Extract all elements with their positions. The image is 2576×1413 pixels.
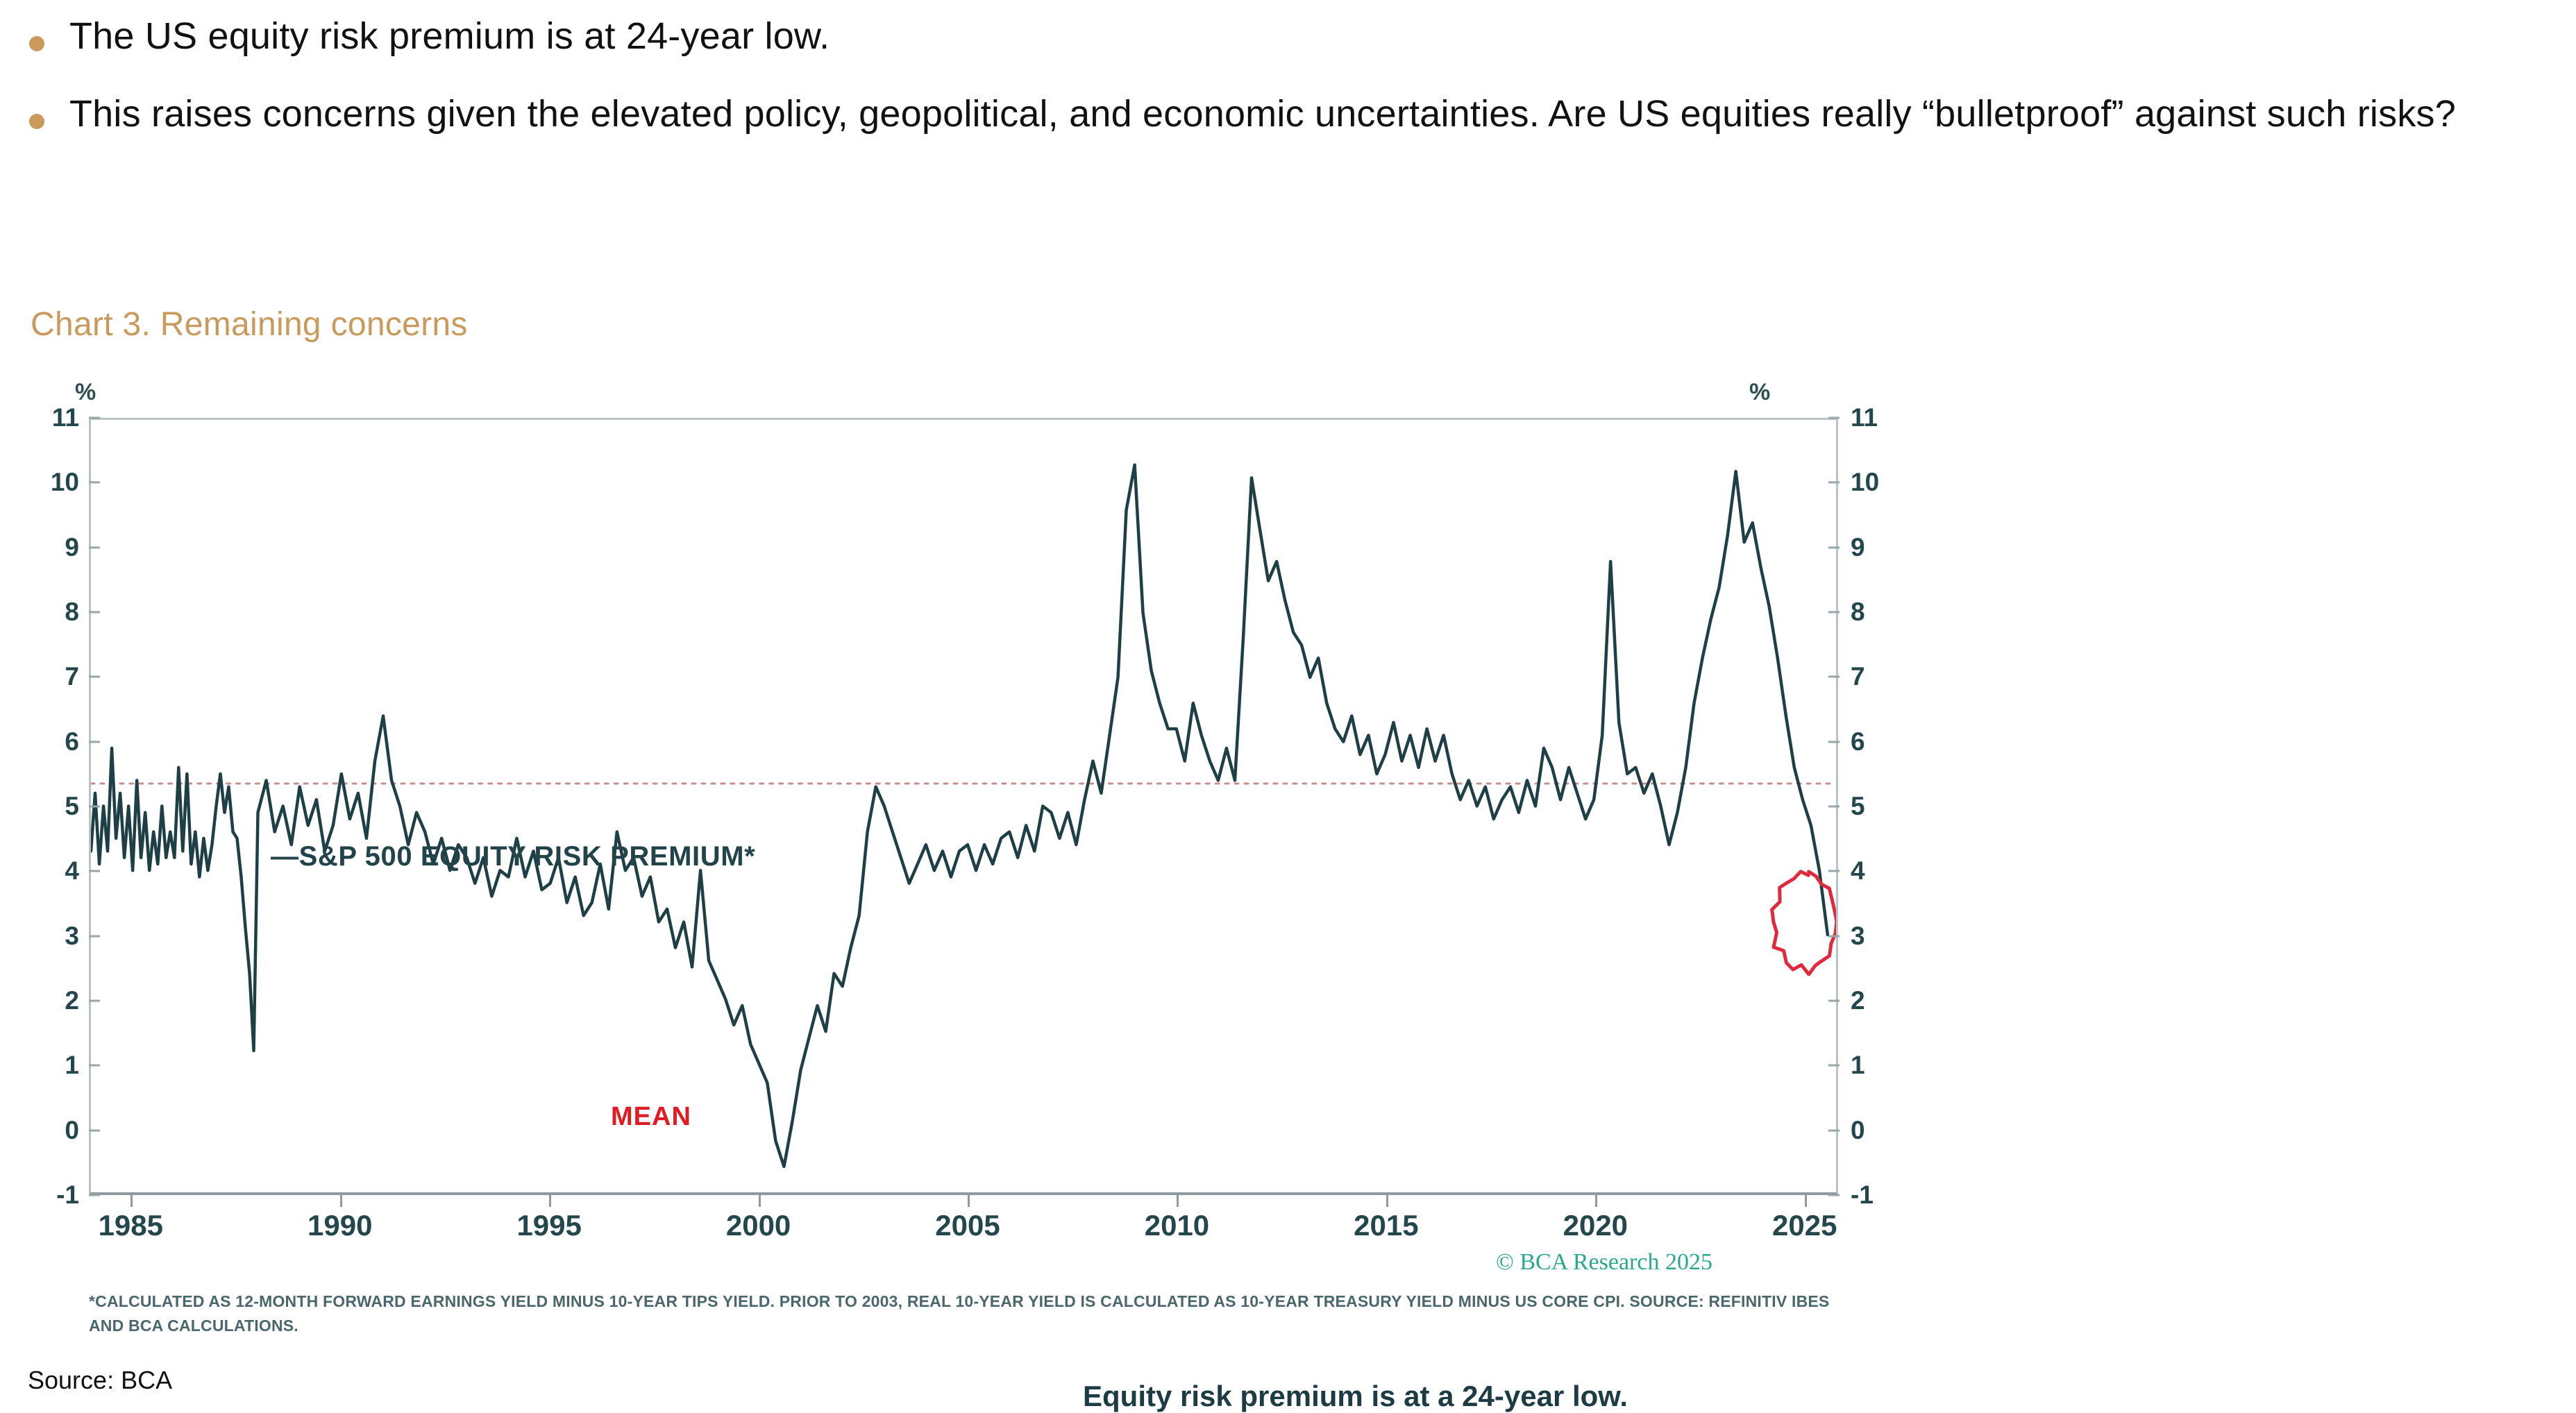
- y-axis-tick-mark: [1828, 1000, 1840, 1002]
- y-axis-tick-mark: [1828, 870, 1840, 872]
- x-axis-tick-label: 2020: [1563, 1209, 1628, 1242]
- list-item: The US equity risk premium is at 24-year…: [0, 14, 2561, 60]
- y-axis-tick-mark: [89, 1194, 100, 1196]
- y-axis-tick-label: 6: [1851, 727, 1920, 756]
- y-axis-tick-label: 9: [10, 533, 79, 562]
- bullet-dot-icon: [29, 36, 44, 51]
- y-axis-tick-mark: [89, 1065, 100, 1067]
- bullet-text-2: This raises concerns given the elevated …: [69, 92, 2456, 137]
- y-axis-tick-label: 11: [1851, 403, 1920, 432]
- y-axis-tick-label: 2: [1851, 986, 1920, 1015]
- y-axis-tick-mark: [1828, 1065, 1840, 1067]
- y-axis-tick-mark: [89, 935, 100, 937]
- y-axis-tick-label: -1: [1851, 1181, 1920, 1210]
- x-axis-tick-label: 1990: [308, 1209, 372, 1242]
- y-axis-tick-mark: [89, 482, 100, 484]
- chart-container: % % -1-100112233445566778899101011111985…: [0, 361, 1860, 1346]
- y-axis-tick-label: 0: [1851, 1116, 1920, 1145]
- y-axis-tick-label: 3: [10, 922, 79, 951]
- y-axis-tick-mark: [1828, 676, 1840, 678]
- y-axis-tick-label: 5: [10, 792, 79, 821]
- x-axis-tick-label: 2000: [726, 1209, 791, 1242]
- x-axis-tick-mark: [131, 1195, 133, 1207]
- bullet-dot-icon: [29, 114, 44, 129]
- y-axis-tick-label: -1: [10, 1181, 79, 1210]
- x-axis-tick-label: 1995: [516, 1209, 581, 1242]
- x-axis-tick-mark: [968, 1195, 970, 1207]
- y-axis-tick-label: 7: [10, 662, 79, 691]
- y-axis-tick-label: 4: [10, 856, 79, 886]
- y-axis-tick-mark: [1828, 1129, 1840, 1131]
- y-axis-tick-label: 11: [10, 403, 79, 432]
- x-axis-tick-label: 2025: [1772, 1209, 1837, 1242]
- y-axis-tick-label: 1: [10, 1051, 79, 1080]
- legend-series-label: —S&P 500 EQUITY RISK PREMIUM*: [271, 841, 755, 872]
- y-axis-tick-mark: [1828, 417, 1840, 419]
- x-axis-tick-mark: [1805, 1195, 1807, 1207]
- x-axis-tick-mark: [759, 1195, 761, 1207]
- y-axis-tick-mark: [89, 1000, 100, 1002]
- y-axis-tick-label: 4: [1851, 856, 1920, 886]
- y-axis-unit-right: %: [1749, 379, 1770, 406]
- source-label: Source: BCA: [28, 1366, 172, 1395]
- y-axis-tick-label: 8: [1851, 598, 1920, 627]
- y-axis-tick-mark: [89, 676, 100, 678]
- y-axis-tick-mark: [1828, 611, 1840, 614]
- y-axis-tick-mark: [89, 546, 100, 548]
- x-axis-tick-mark: [340, 1195, 342, 1207]
- y-axis-tick-label: 8: [10, 598, 79, 627]
- x-axis-tick-label: 2015: [1354, 1209, 1418, 1242]
- y-axis-tick-mark: [1828, 1194, 1840, 1196]
- x-axis-tick-label: 2005: [935, 1209, 1000, 1242]
- bullet-text-1: The US equity risk premium is at 24-year…: [69, 14, 830, 60]
- x-axis-tick-label: 1985: [99, 1209, 163, 1242]
- y-axis-tick-label: 7: [1851, 662, 1920, 691]
- mean-line-label: MEAN: [611, 1102, 691, 1132]
- y-axis-tick-mark: [1828, 935, 1840, 937]
- x-axis-tick-mark: [549, 1195, 551, 1207]
- list-item: This raises concerns given the elevated …: [0, 92, 2561, 137]
- y-axis-tick-mark: [89, 806, 100, 808]
- y-axis-tick-label: 9: [1851, 533, 1920, 562]
- x-axis-tick-mark: [1595, 1195, 1597, 1207]
- y-axis-unit-left: %: [75, 379, 96, 406]
- y-axis-tick-label: 3: [1851, 922, 1920, 951]
- chart-title: Chart 3. Remaining concerns: [31, 305, 468, 344]
- y-axis-tick-mark: [1828, 482, 1840, 484]
- y-axis-tick-mark: [89, 611, 100, 614]
- x-axis-tick-mark: [1386, 1195, 1388, 1207]
- y-axis-tick-mark: [89, 1129, 100, 1131]
- y-axis-tick-label: 0: [10, 1116, 79, 1145]
- chart-callout-text: Equity risk premium is at a 24-year low.: [1083, 1380, 1628, 1413]
- y-axis-tick-mark: [89, 741, 100, 743]
- y-axis-tick-mark: [89, 417, 100, 419]
- plot-area: [89, 418, 1838, 1195]
- y-axis-tick-label: 1: [1851, 1051, 1920, 1080]
- y-axis-tick-mark: [89, 870, 100, 872]
- copyright-label: © BCA Research 2025: [1496, 1249, 1712, 1276]
- y-axis-tick-mark: [1828, 741, 1840, 743]
- bullet-list: The US equity risk premium is at 24-year…: [0, 14, 2561, 169]
- y-axis-tick-label: 10: [1851, 468, 1920, 497]
- x-axis-tick-mark: [1177, 1195, 1179, 1207]
- y-axis-tick-mark: [1828, 546, 1840, 548]
- y-axis-tick-mark: [1828, 806, 1840, 808]
- series-plot: [91, 420, 1836, 1192]
- x-axis-tick-label: 2010: [1145, 1209, 1209, 1242]
- y-axis-tick-label: 5: [1851, 792, 1920, 821]
- chart-footnote: *CALCULATED AS 12-MONTH FORWARD EARNINGS…: [89, 1289, 1866, 1337]
- y-axis-tick-label: 6: [10, 727, 79, 756]
- y-axis-tick-label: 10: [10, 468, 79, 497]
- y-axis-tick-label: 2: [10, 986, 79, 1015]
